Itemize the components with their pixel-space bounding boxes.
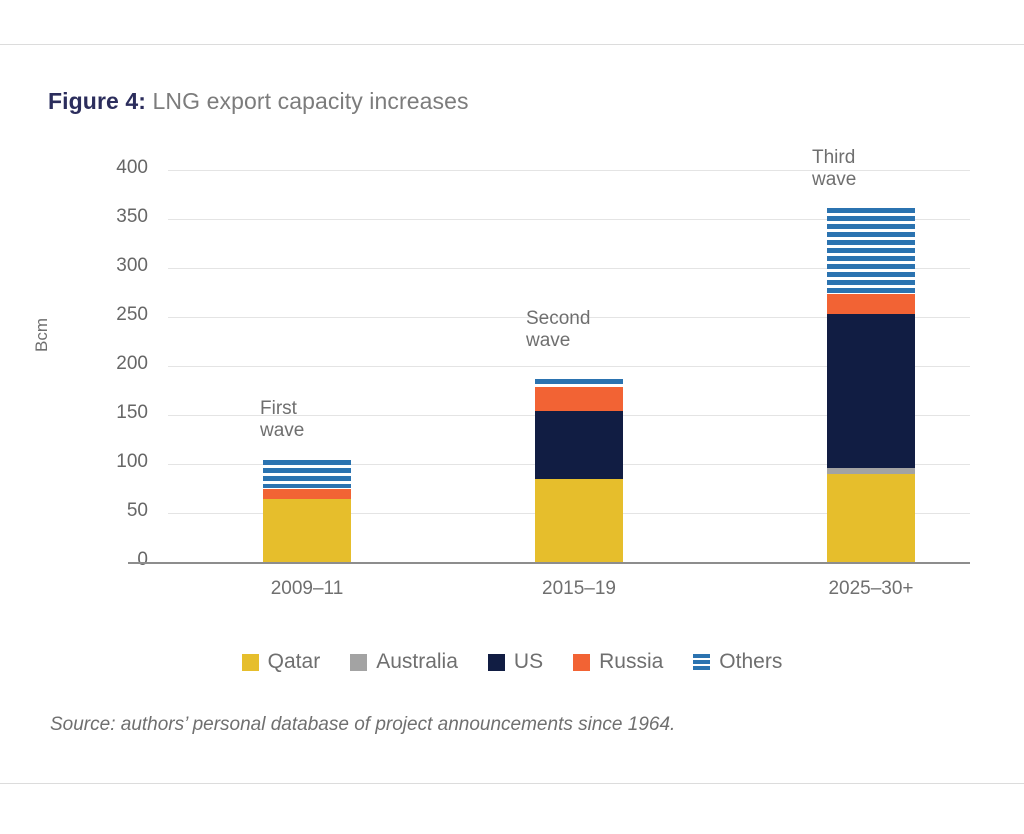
- legend-swatch-icon: [573, 654, 590, 671]
- legend-item-us[interactable]: US: [488, 650, 543, 674]
- legend-item-russia[interactable]: Russia: [573, 650, 663, 674]
- figure-page: Figure 4: LNG export capacity increases …: [0, 0, 1024, 834]
- y-axis-title: Bcm: [32, 318, 52, 352]
- x-axis-tick-label: 2009–11: [197, 578, 417, 600]
- wave-annotation-line1: Second: [526, 308, 590, 330]
- legend-label: Russia: [599, 650, 663, 674]
- wave-annotation-line1: First: [260, 398, 304, 420]
- y-axis-tick-label: 150: [76, 402, 148, 424]
- legend-item-qatar[interactable]: Qatar: [242, 650, 321, 674]
- legend-label: Qatar: [268, 650, 321, 674]
- y-axis-tick-label: 100: [76, 451, 148, 473]
- bar-segment-others[interactable]: [827, 208, 915, 294]
- bar-segment-russia[interactable]: [263, 489, 351, 500]
- bar-segment-russia[interactable]: [535, 387, 623, 412]
- wave-annotation: Firstwave: [260, 398, 304, 442]
- bar-segment-australia[interactable]: [827, 468, 915, 474]
- wave-annotation-line1: Third: [812, 147, 856, 169]
- bar-segment-qatar[interactable]: [535, 479, 623, 562]
- bar-segment-qatar[interactable]: [827, 474, 915, 562]
- y-axis-tick-label: 400: [76, 157, 148, 179]
- bar-segment-us[interactable]: [827, 314, 915, 468]
- bar-column[interactable]: [535, 0, 623, 562]
- x-axis-line: [128, 562, 970, 564]
- chart-legend: QatarAustraliaUSRussiaOthers: [0, 650, 1024, 674]
- bar-segment-others[interactable]: [535, 379, 623, 387]
- x-axis-tick-label: 2015–19: [469, 578, 689, 600]
- y-axis-tick-label: 0: [76, 549, 148, 571]
- legend-label: US: [514, 650, 543, 674]
- wave-annotation: Thirdwave: [812, 147, 856, 191]
- y-axis-tick-label: 200: [76, 353, 148, 375]
- legend-item-australia[interactable]: Australia: [350, 650, 458, 674]
- bar-column[interactable]: [263, 0, 351, 562]
- wave-annotation-line2: wave: [260, 420, 304, 442]
- bar-segment-russia[interactable]: [827, 294, 915, 314]
- legend-swatch-icon: [242, 654, 259, 671]
- chart-plot-area: Bcm 050100150200250300350400 2009–112015…: [0, 0, 1024, 834]
- y-axis-tick-label: 350: [76, 206, 148, 228]
- legend-swatch-icon: [488, 654, 505, 671]
- legend-label: Others: [719, 650, 782, 674]
- y-axis-tick-label: 250: [76, 304, 148, 326]
- bar-segment-us[interactable]: [535, 411, 623, 479]
- bar-segment-others[interactable]: [263, 460, 351, 488]
- legend-swatch-icon: [350, 654, 367, 671]
- legend-swatch-icon: [693, 654, 710, 671]
- wave-annotation: Secondwave: [526, 308, 590, 352]
- source-note: Source: authors’ personal database of pr…: [50, 714, 675, 736]
- y-axis-tick-label: 300: [76, 255, 148, 277]
- legend-item-others[interactable]: Others: [693, 650, 782, 674]
- bar-column[interactable]: [827, 0, 915, 562]
- x-axis-tick-label: 2025–30+: [761, 578, 981, 600]
- wave-annotation-line2: wave: [812, 169, 856, 191]
- y-axis-tick-label: 50: [76, 500, 148, 522]
- legend-label: Australia: [376, 650, 458, 674]
- wave-annotation-line2: wave: [526, 330, 590, 352]
- bar-segment-qatar[interactable]: [263, 499, 351, 562]
